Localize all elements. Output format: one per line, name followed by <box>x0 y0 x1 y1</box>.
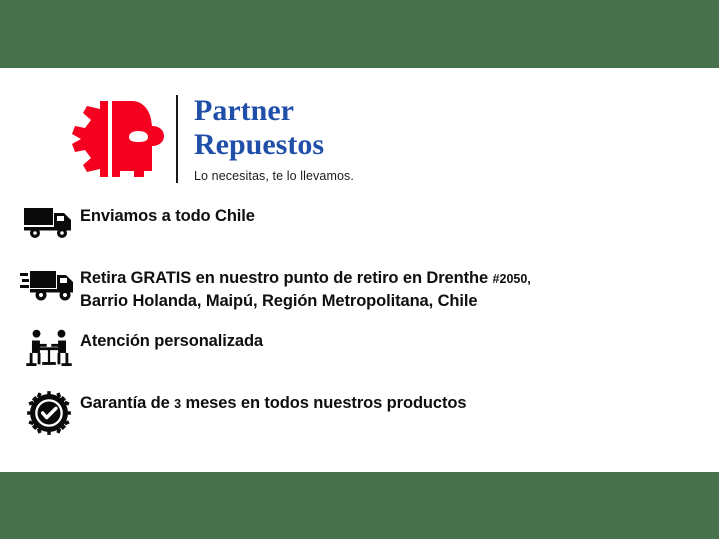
feature-label-shipping: Enviamos a todo Chile <box>80 203 255 227</box>
promo-banner: Partner Repuestos Lo necesitas, te lo ll… <box>0 0 719 539</box>
pickup-line-1-main: Retira GRATIS en nuestro punto de retiro… <box>80 269 493 287</box>
brand-tagline: Lo necesitas, te lo llevamos. <box>194 169 354 183</box>
logo-wordmark: Partner Repuestos Lo necesitas, te lo ll… <box>194 94 354 183</box>
feature-row-shipping: Enviamos a todo Chile <box>0 203 719 239</box>
brand-name-line-1: Partner <box>194 94 354 128</box>
delivery-truck-icon <box>18 203 80 239</box>
guarantee-badge-icon <box>18 390 80 436</box>
feature-label-warranty: Garantía de 3 meses en todos nuestros pr… <box>80 390 466 415</box>
gear-car-logo-icon <box>56 95 168 183</box>
pickup-line-2: Barrio Holanda, Maipú, Región Metropolit… <box>80 292 477 310</box>
feature-label-pickup: Retira GRATIS en nuestro punto de retiro… <box>80 265 531 312</box>
moving-truck-icon <box>18 265 80 303</box>
bottom-green-band <box>0 472 719 539</box>
feature-row-pickup: Retira GRATIS en nuestro punto de retiro… <box>0 265 719 312</box>
warranty-text-after: meses en todos nuestros productos <box>181 394 466 412</box>
feature-row-service: Atención personalizada <box>0 328 719 370</box>
meeting-table-icon <box>18 328 80 370</box>
logo-divider <box>176 95 178 183</box>
feature-row-warranty: Garantía de 3 meses en todos nuestros pr… <box>0 390 719 436</box>
content-area: Partner Repuestos Lo necesitas, te lo ll… <box>0 68 719 472</box>
logo-block: Partner Repuestos Lo necesitas, te lo ll… <box>56 94 354 183</box>
brand-name-line-2: Repuestos <box>194 128 354 162</box>
top-green-band <box>0 0 719 68</box>
feature-label-service: Atención personalizada <box>80 328 263 352</box>
pickup-street-number: #2050, <box>493 272 531 286</box>
warranty-months-number: 3 <box>174 397 181 411</box>
warranty-text-before: Garantía de <box>80 394 174 412</box>
